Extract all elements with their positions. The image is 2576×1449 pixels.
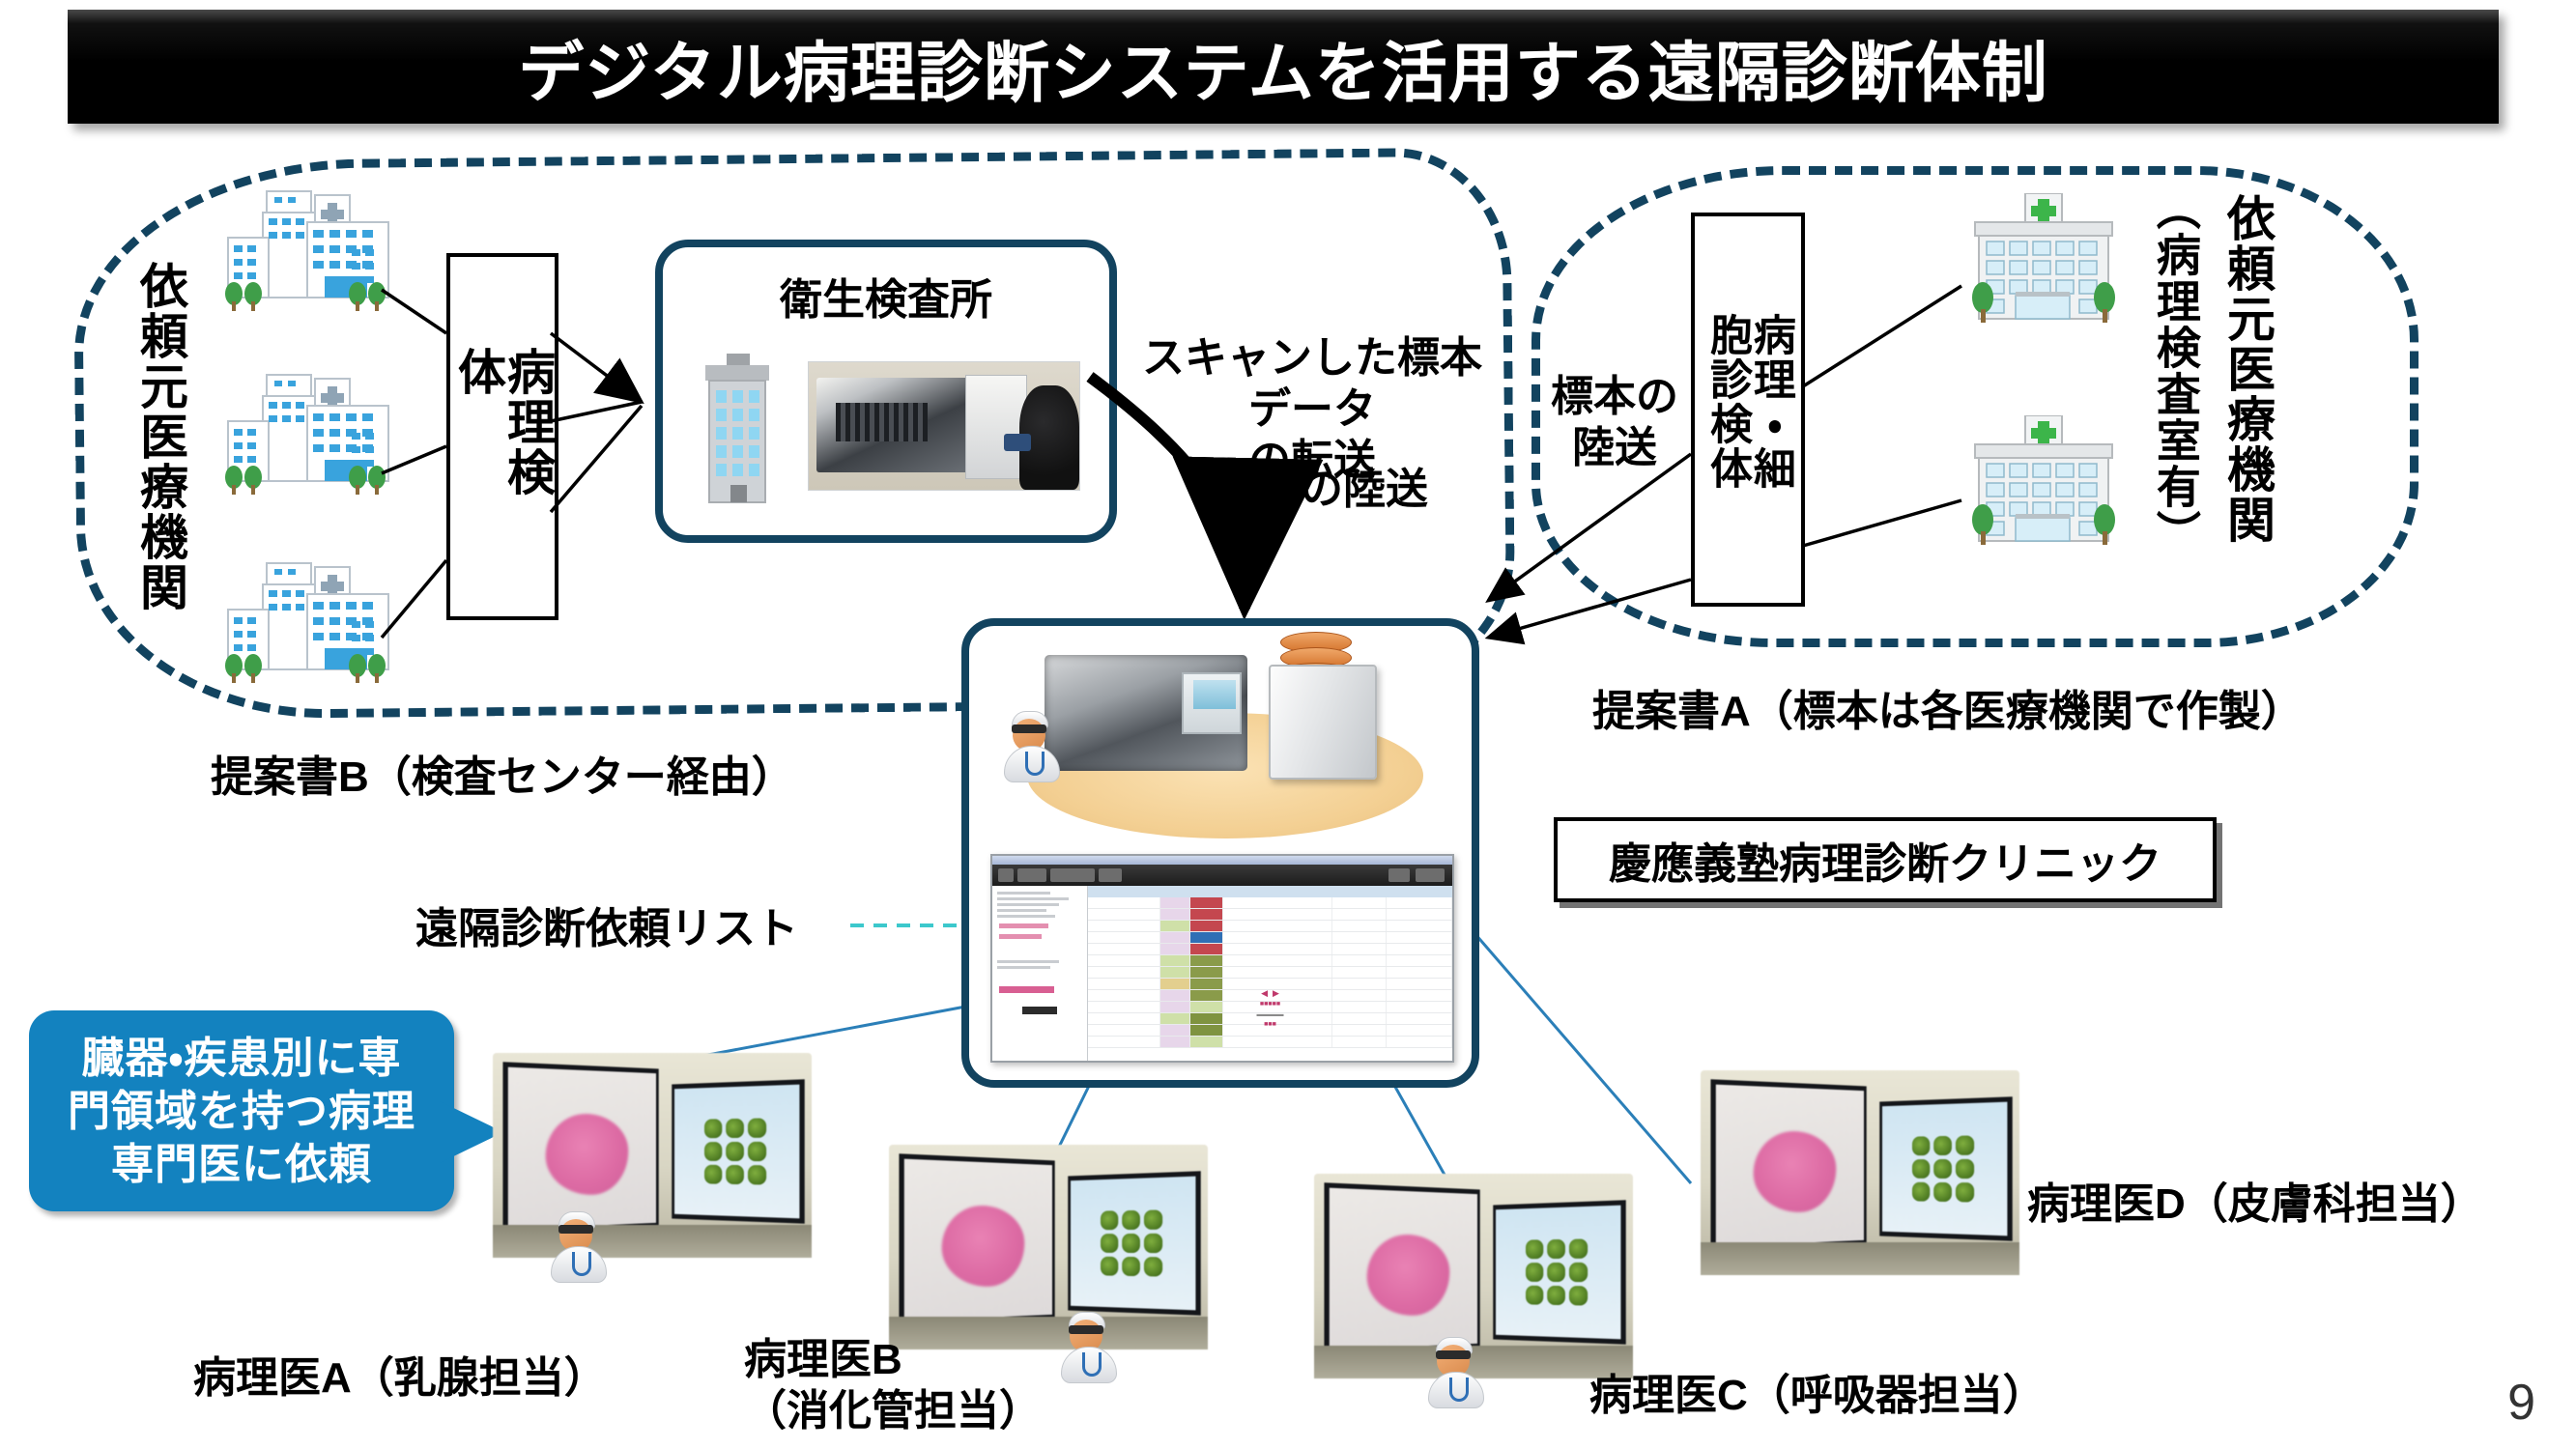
hospital-icon: [1961, 193, 2126, 333]
lab-building-icon: [698, 354, 777, 513]
proposal-a-caption: 提案書A（標本は各医療機関で作製）: [1592, 676, 2304, 738]
request-list-screenshot[interactable]: ◀ ▶ ■■■■■ ▬▬▬▬ ■■■: [990, 854, 1454, 1063]
physical-transport-note-right-text: 標本の 陸送: [1551, 373, 1678, 471]
doctor-avatar-icon: [1004, 709, 1060, 786]
specimen-box-right-label: 病理・細胞診検体: [1704, 313, 1791, 506]
hygiene-lab-box: 衛生検査所: [655, 240, 1117, 543]
specimen-box-left: 病理検体: [446, 253, 558, 620]
doctor-avatar-icon: [551, 1209, 607, 1287]
page-number: 9: [2507, 1374, 2535, 1432]
slide-title-bar: デジタル病理診断システムを活用する遠隔診断体制: [68, 10, 2499, 124]
scanner-icon: [1045, 655, 1247, 771]
specimen-box-right: 病理・細胞診検体: [1691, 213, 1805, 607]
hospital-icon: [1961, 415, 2126, 555]
specimen-box-left-label: 病理検体: [453, 347, 552, 526]
pathologist-d-label: 病理医D（皮膚科担当）: [2027, 1169, 2483, 1231]
pathologist-b-monitors: [889, 1145, 1208, 1350]
doctor-avatar-icon: [1061, 1310, 1117, 1387]
callout-text: 臓器・疾患別に専 門領域を持つ病理 専門医に依頼: [68, 1032, 415, 1191]
request-list-label: 遠隔診断依頼リスト: [415, 894, 798, 955]
left-group-vertical-label: 依頼元医療機関: [135, 261, 185, 612]
proposal-b-caption: 提案書B（検査センター経由）: [211, 742, 794, 804]
clinic-system-box: ◀ ▶ ■■■■■ ▬▬▬▬ ■■■: [961, 618, 1479, 1088]
pathologist-d-monitors: [1701, 1070, 2019, 1275]
pathologist-b-label: 病理医B （消化管担当）: [744, 1335, 1042, 1437]
pathologist-a-label: 病理医A（乳腺担当）: [193, 1343, 607, 1405]
doctor-avatar-icon: [1428, 1335, 1484, 1412]
right-group-vertical-label: 依頼元医療機関: [2222, 193, 2272, 545]
physical-transport-note-right: 標本の 陸送: [1551, 372, 1678, 474]
physical-transport-note-left: 標本の陸送: [1216, 454, 1428, 516]
pathologist-a-monitors: [493, 1053, 812, 1258]
lab-equipment-photo: [808, 361, 1080, 491]
hospital-icon: [211, 367, 404, 512]
right-group-vertical-sublabel: （病理検査室有）: [2153, 185, 2198, 556]
page-title: デジタル病理診断システムを活用する遠隔診断体制: [518, 19, 2048, 115]
hospital-icon: [211, 184, 404, 328]
clinic-label: 慶應義塾病理診断クリニック: [1558, 829, 2213, 891]
pathologist-c-label: 病理医C（呼吸器担当）: [1589, 1360, 2046, 1422]
hospital-icon: [211, 555, 404, 700]
hygiene-lab-title: 衛生検査所: [663, 265, 1109, 327]
server-icon: [1269, 665, 1377, 780]
clinic-box: 慶應義塾病理診断クリニック: [1554, 817, 2217, 902]
callout-bubble: 臓器・疾患別に専 門領域を持つ病理 専門医に依頼: [29, 1010, 454, 1211]
